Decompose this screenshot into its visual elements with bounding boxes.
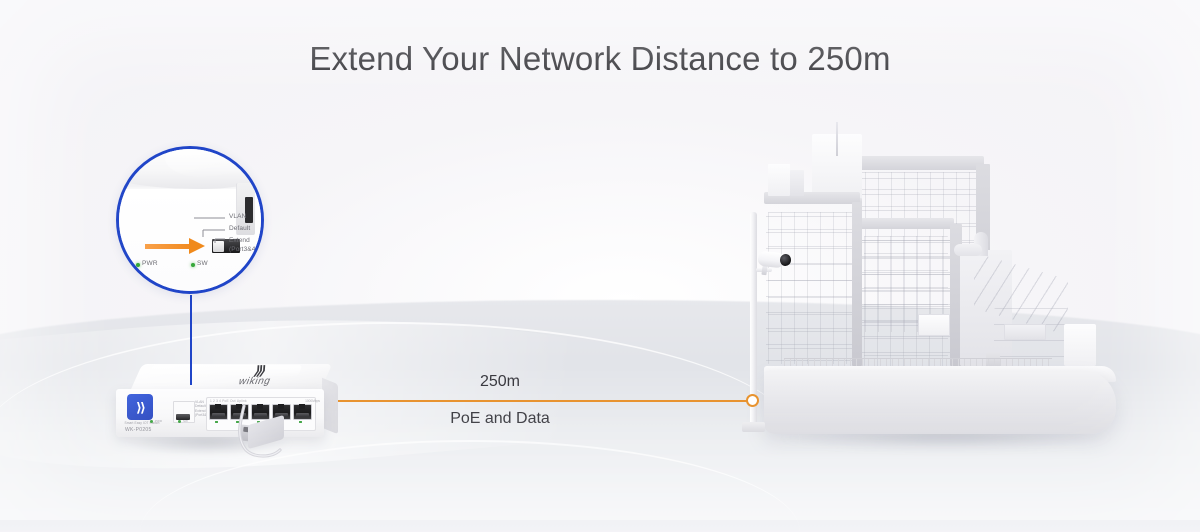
callout-magnifier: VLAN Default Extend (Port3&4) PWR SW <box>116 146 264 294</box>
left-penthouse-b <box>790 170 804 196</box>
rj45-port-1[interactable] <box>209 404 228 420</box>
switch-logo-icon: ⟩⟩ <box>136 401 144 414</box>
poe-switch: ⟩⟩⟩ wiking ⟩⟩ Smart Easy IOT Switch WK-P… <box>116 364 338 442</box>
magnified-sw-led <box>191 263 195 267</box>
link-node-pole <box>746 394 759 407</box>
tower-rear-roof <box>850 156 984 170</box>
left-penthouse <box>768 164 790 196</box>
callout-stem <box>190 295 192 385</box>
gap-shaft <box>852 202 862 366</box>
dip-label-default: Default <box>229 225 250 233</box>
switch-brand: ⟩⟩⟩ wiking <box>209 365 303 390</box>
brand-name: wiking <box>210 375 299 387</box>
switch-model-label: WK-P0205 <box>125 427 152 433</box>
magnified-pwr-led <box>136 263 140 267</box>
dip-leader-lines <box>193 209 261 249</box>
sw-led-label: SW <box>183 419 188 423</box>
right-end-block <box>1064 324 1096 366</box>
port-speed-label: 1000Mbps <box>305 399 320 403</box>
link-distance-label: 250m <box>400 373 600 391</box>
dip-label-vlan: VLAN <box>229 213 246 221</box>
switch-right-side <box>322 378 338 434</box>
camera-pole-base <box>742 422 765 432</box>
center-block-facade <box>864 236 948 366</box>
sw-led <box>178 420 181 423</box>
page-title: Extend Your Network Distance to 250m <box>0 40 1200 78</box>
switch-logo-badge: ⟩⟩ <box>127 394 153 420</box>
scene-stage: Extend Your Network Distance to 250m <box>0 0 1200 520</box>
dip-label-ports: (Port3&4) <box>229 246 258 254</box>
arrow-shaft <box>145 244 191 249</box>
site-base <box>764 370 1116 434</box>
roof-unit <box>954 244 982 256</box>
left-corner-facade <box>768 212 854 364</box>
magnified-pwr-label: PWR <box>142 260 158 267</box>
pwr-led <box>150 420 153 423</box>
right-wing-sign <box>1004 324 1046 340</box>
port-group-label: 1 2 3 4 PoE Out Uplink <box>210 399 247 403</box>
center-block-cornice <box>858 218 954 229</box>
rooftop-antenna <box>836 122 838 156</box>
link-type-label: PoE and Data <box>380 410 620 428</box>
magnified-sw-label: SW <box>197 260 208 267</box>
dip-label-extend: Extend <box>229 237 250 245</box>
center-signboard <box>918 314 950 336</box>
pwr-led-label: PWR <box>155 419 162 423</box>
building-complex <box>742 128 1132 444</box>
